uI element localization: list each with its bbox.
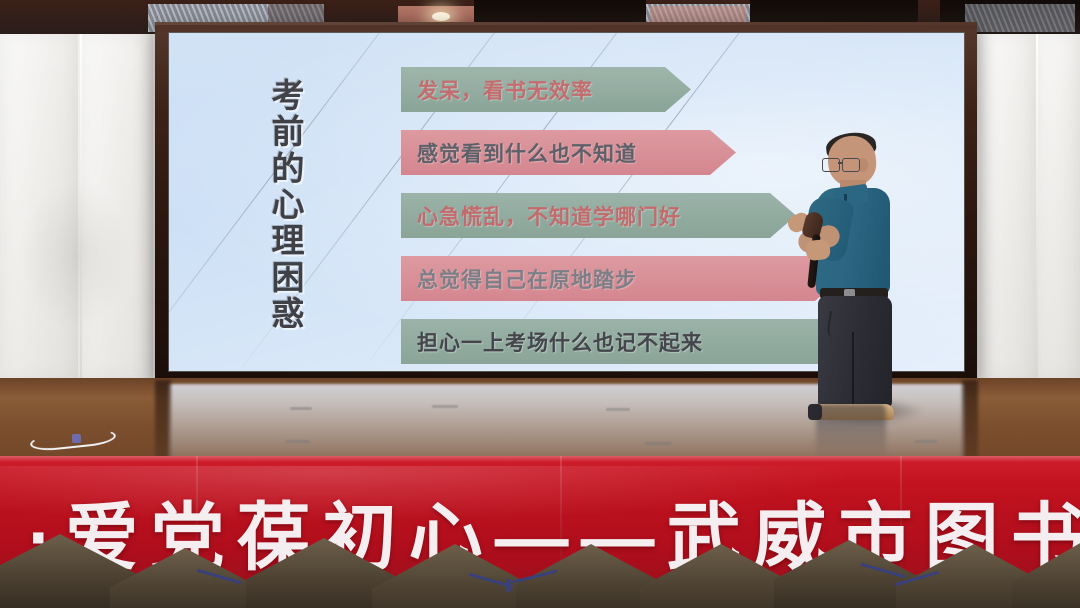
bar-spacer-1 [401,112,961,130]
presenter-pocket [826,311,849,340]
slide-title-vertical: 考 前 的 心 理 困 惑 [257,79,319,331]
slide-title-char-6: 惑 [272,297,305,331]
presenter[interactable] [800,136,930,426]
floor-cable-plug [72,434,81,443]
banner-top-edge [0,456,1080,462]
cap-tassel-end [506,579,511,592]
slide-title-char-5: 困 [272,261,305,295]
floor-mark-5 [645,442,671,445]
floor-mark-2 [432,405,458,408]
slide-bar-2-label: 感觉看到什么也不知道 [401,138,637,168]
slide-bar-4-label: 总觉得自己在原地踏步 [401,264,637,294]
floor-mark-4 [286,440,310,443]
floor-gloss [0,0,1080,110]
slide-bar-2: 感觉看到什么也不知道 [401,130,736,175]
presenter-hand-right [805,239,831,261]
wall-smudge-left [20,180,130,330]
slide-title-char-3: 心 [272,188,305,222]
graduation-cap-row [0,524,1080,608]
slide-bar-4: 总觉得自己在原地踏步 [401,256,841,301]
slide-bar-3: 心急慌乱，不知道学哪门好 [401,193,796,238]
glasses-bridge [838,162,843,164]
floor-mark-6 [915,440,937,443]
slide-title-char-2: 的 [272,152,305,186]
presenter-leg-split [852,332,854,406]
floor-mark-3 [606,408,630,411]
slide-title-char-1: 前 [272,115,305,149]
cap-board [110,548,260,608]
slide-bar-5-label: 担心一上考场什么也记不起来 [401,327,703,357]
slide-title-char-4: 理 [272,224,305,258]
floor-mark-1 [290,407,312,410]
cap-board [372,544,538,608]
stage-scene: 考 前 的 心 理 困 惑 发呆，看书无效率 感觉看到什么也不知道 心急慌乱，不… [0,0,1080,608]
slide-bar-3-label: 心急慌乱，不知道学哪门好 [401,201,681,231]
presenter-reflection [816,404,886,458]
glasses-icon [822,158,866,170]
